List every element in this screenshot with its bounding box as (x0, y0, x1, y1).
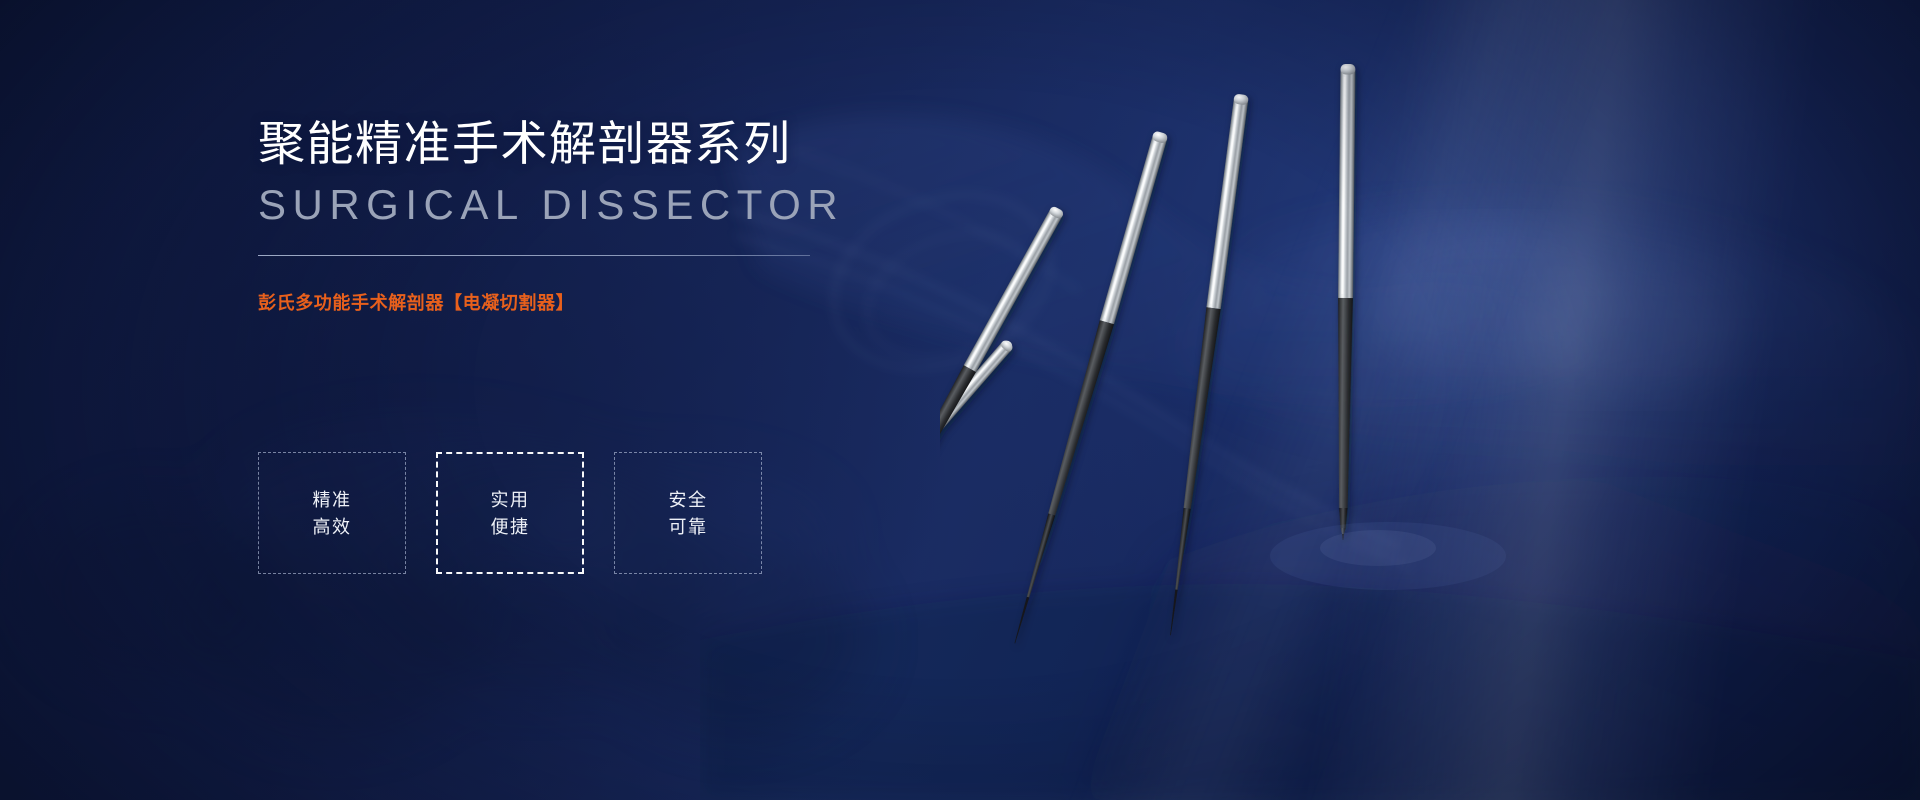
hero-text-block: 聚能精准手术解剖器系列 SURGICAL DISSECTOR 彭氏多功能手术解剖… (258, 118, 878, 315)
feature-box-precision[interactable]: 精准 高效 (258, 452, 406, 574)
feature-line-1: 精准 (313, 491, 352, 509)
feature-line-1: 实用 (491, 491, 530, 509)
feature-box-safety[interactable]: 安全 可靠 (614, 452, 762, 574)
feature-line-2: 高效 (313, 518, 352, 536)
page-title: 聚能精准手术解剖器系列 (258, 118, 878, 171)
english-subtitle: SURGICAL DISSECTOR (258, 181, 878, 229)
feature-line-1: 安全 (669, 491, 708, 509)
feature-line-2: 便捷 (491, 518, 530, 536)
background-soft-blobs (0, 380, 900, 800)
divider (258, 255, 810, 256)
product-banner: 聚能精准手术解剖器系列 SURGICAL DISSECTOR 彭氏多功能手术解剖… (0, 0, 1920, 800)
feature-line-2: 可靠 (669, 518, 708, 536)
product-tagline: 彭氏多功能手术解剖器【电凝切割器】 (258, 289, 878, 315)
feature-box-list: 精准 高效 实用 便捷 安全 可靠 (258, 452, 762, 574)
surgical-dissector-instruments (940, 0, 1920, 800)
feature-box-practical[interactable]: 实用 便捷 (436, 452, 584, 574)
